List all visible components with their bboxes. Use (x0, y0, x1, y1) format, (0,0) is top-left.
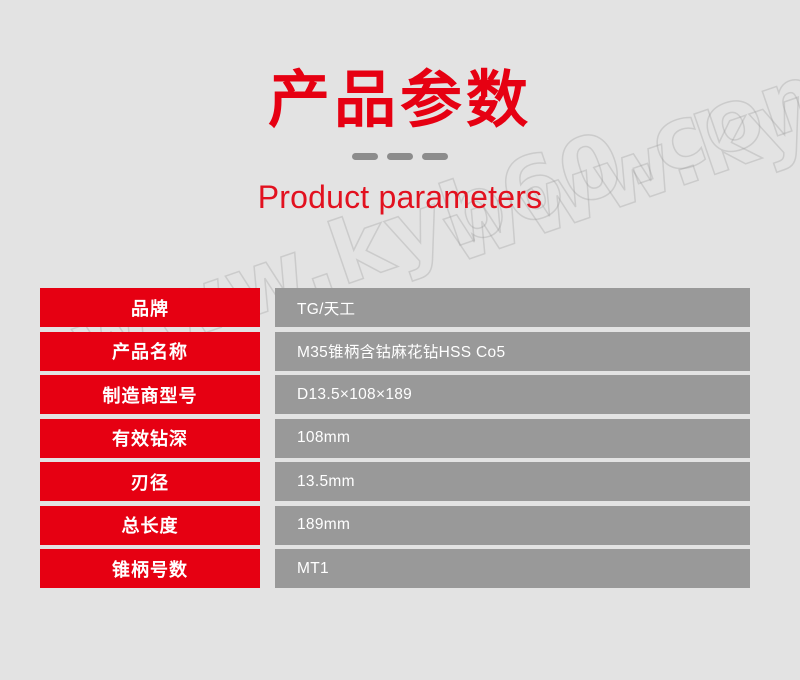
table-row: 制造商型号 D13.5×108×189 (40, 375, 750, 414)
divider-dash-1 (352, 153, 378, 160)
param-value-taper-size: MT1 (275, 549, 750, 588)
product-parameters-page: 产品参数 Product parameters 品牌 TG/天工 产品名称 M3… (0, 0, 800, 680)
param-label-taper-size: 锥柄号数 (40, 549, 260, 588)
param-value-product-name: M35锥柄含钴麻花钻HSS Co5 (275, 332, 750, 371)
param-label-total-length: 总长度 (40, 506, 260, 545)
param-label-brand: 品牌 (40, 288, 260, 327)
param-value-blade-diameter: 13.5mm (275, 462, 750, 501)
param-value-model-number: D13.5×108×189 (275, 375, 750, 414)
table-row: 品牌 TG/天工 (40, 288, 750, 327)
param-value-total-length: 189mm (275, 506, 750, 545)
table-row: 锥柄号数 MT1 (40, 549, 750, 588)
divider-dash-3 (422, 153, 448, 160)
page-header: 产品参数 Product parameters (0, 0, 800, 216)
divider-dash-2 (387, 153, 413, 160)
param-value-brand: TG/天工 (275, 288, 750, 327)
page-title-cn: 产品参数 (0, 0, 800, 136)
param-label-model-number: 制造商型号 (40, 375, 260, 414)
page-title-en: Product parameters (0, 160, 800, 216)
table-row: 刃径 13.5mm (40, 462, 750, 501)
param-label-drill-depth: 有效钻深 (40, 419, 260, 458)
table-row: 总长度 189mm (40, 506, 750, 545)
param-label-blade-diameter: 刃径 (40, 462, 260, 501)
param-label-product-name: 产品名称 (40, 332, 260, 371)
title-divider (0, 152, 800, 160)
param-value-drill-depth: 108mm (275, 419, 750, 458)
table-row: 有效钻深 108mm (40, 419, 750, 458)
table-row: 产品名称 M35锥柄含钴麻花钻HSS Co5 (40, 332, 750, 371)
parameter-table: 品牌 TG/天工 产品名称 M35锥柄含钴麻花钻HSS Co5 制造商型号 D1… (40, 288, 750, 588)
